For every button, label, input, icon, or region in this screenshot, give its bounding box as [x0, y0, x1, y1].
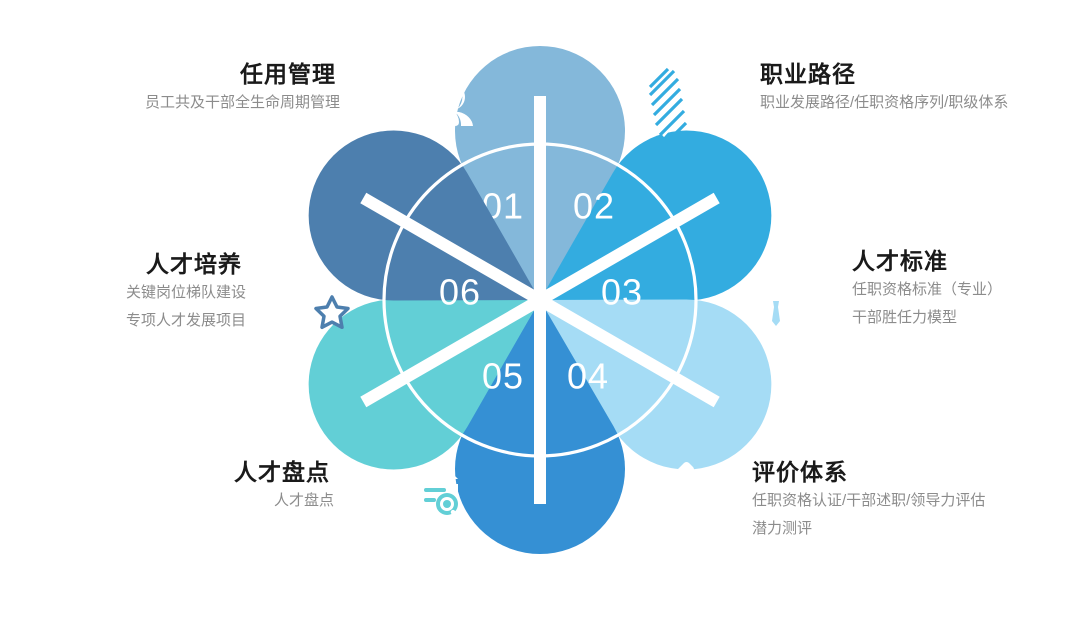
label-sub-06-line1: 关键岗位梯队建设 — [0, 279, 246, 307]
label-title-03: 人才标准 — [852, 247, 1081, 276]
person-tie-icon — [750, 268, 802, 326]
petal-04-number: 04 — [567, 356, 609, 397]
label-block-02[interactable]: 职业路径 职业发展路径/任职资格序列/职级体系 — [760, 60, 1080, 117]
label-block-05[interactable]: 人才盘点 人才盘点 — [0, 458, 334, 515]
label-title-04: 评价体系 — [752, 458, 1081, 487]
label-sub-03-line1: 任职资格标准（专业） — [852, 276, 1081, 304]
label-sub-03-line2: 干部胜任力模型 — [852, 304, 1081, 332]
petal-03-number: 03 — [601, 272, 643, 313]
label-sub-05-line1: 人才盘点 — [0, 487, 334, 515]
label-title-05: 人才盘点 — [0, 458, 334, 487]
label-block-01[interactable]: 任用管理 员工共及干部全生命周期管理 — [0, 60, 340, 117]
label-sub-01-line1: 员工共及干部全生命周期管理 — [0, 89, 340, 117]
label-sub-06-line2: 专项人才发展项目 — [0, 307, 246, 335]
label-block-06[interactable]: 人才培养 关键岗位梯队建设 专项人才发展项目 — [0, 250, 246, 334]
document-search-icon — [415, 467, 459, 520]
petal-05-number: 05 — [482, 356, 524, 397]
edit-square-icon — [639, 462, 694, 516]
label-block-03[interactable]: 人才标准 任职资格标准（专业） 干部胜任力模型 — [852, 247, 1081, 331]
label-title-01: 任用管理 — [0, 60, 340, 89]
label-block-04[interactable]: 评价体系 任职资格认证/干部述职/领导力评估 潜力测评 — [752, 458, 1081, 542]
diagram-stage: 01 02 — [0, 0, 1081, 626]
label-sub-04-line2: 潜力测评 — [752, 515, 1081, 543]
label-sub-04-line1: 任职资格认证/干部述职/领导力评估 — [752, 487, 1081, 515]
label-title-06: 人才培养 — [0, 250, 246, 279]
petal-06-number: 06 — [439, 272, 481, 313]
label-sub-02-line1: 职业发展路径/任职资格序列/职级体系 — [760, 89, 1080, 117]
petal-02-number: 02 — [573, 186, 615, 227]
label-title-02: 职业路径 — [760, 60, 1080, 89]
